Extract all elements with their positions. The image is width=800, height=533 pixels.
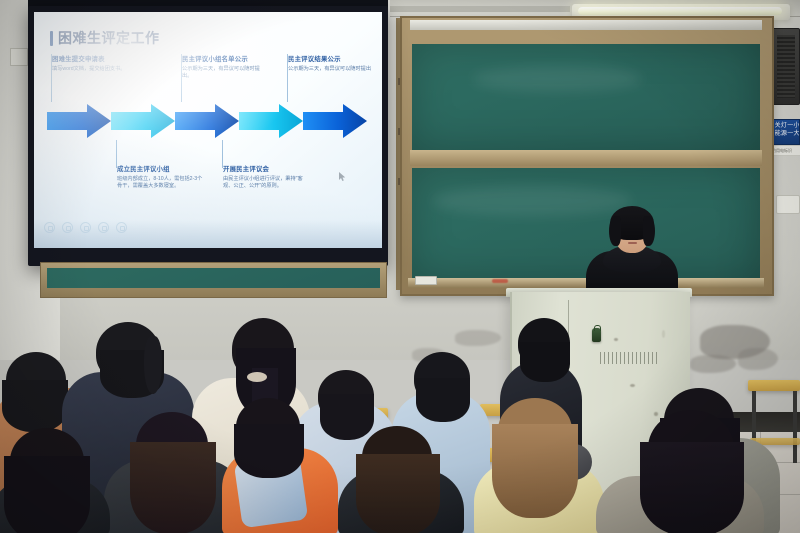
more-icon[interactable]	[116, 222, 127, 233]
step-5-body: 公示期为三天，有异议可以随时提出	[288, 66, 374, 73]
step-box-3: 民主评议小组名单公示 公示期为三天，有异议可以随时提出。	[182, 56, 268, 80]
gear-icon[interactable]	[98, 222, 109, 233]
step-box-4: 开展民主评议会 由民主评议小组进行评议，秉持"客观、公正、公开"的原则。	[223, 166, 309, 190]
presenter-mouth	[628, 242, 637, 244]
step-1-heading: 困难生提交申请表	[52, 56, 138, 64]
arrow-step-2	[111, 104, 175, 138]
step-box-2: 成立民主评议小组 班级内部成立，8-10人，需包括2-3个骨干，需覆盖大多数寝室…	[117, 166, 203, 190]
presentation-slide[interactable]: 困难生评定工作 困难生提交申请表 填写word文档，提交给团支书。 民主评议小组…	[34, 12, 382, 248]
wall-outlet[interactable]	[776, 195, 800, 214]
podium-lock-icon[interactable]	[592, 328, 601, 342]
arrow-step-1	[47, 104, 111, 138]
wall-speaker	[772, 28, 800, 105]
chalkboard-top-rail	[410, 20, 762, 30]
chalk-mark	[492, 279, 508, 283]
title-accent-bar	[50, 31, 53, 46]
step-3-body: 公示期为三天，有异议可以随时提出。	[182, 66, 268, 80]
step-2-heading: 成立民主评议小组	[117, 166, 203, 174]
bottom-step-labels: 成立民主评议小组 班级内部成立，8-10人，需包括2-3个骨干，需覆盖大多数寝室…	[34, 152, 382, 204]
desk-right-edge	[748, 380, 800, 391]
step-box-1: 困难生提交申请表 填写word文档，提交给团支书。	[52, 56, 138, 73]
arrow-step-3	[175, 104, 239, 138]
chalkboard-upper-panel	[412, 44, 760, 150]
pen-icon[interactable]	[62, 222, 73, 233]
top-step-labels: 困难生提交申请表 填写word文档，提交给团支书。 民主评议小组名单公示 公示期…	[34, 56, 382, 96]
presenter	[586, 207, 678, 299]
plaster-damage	[690, 355, 736, 373]
connector-line-5	[287, 54, 288, 102]
connector-line-1	[51, 54, 52, 102]
arrow-step-4	[239, 104, 303, 138]
step-4-heading: 开展民主评议会	[223, 166, 309, 174]
mouse-cursor-icon	[339, 172, 346, 181]
step-1-body: 填写word文档，提交给团支书。	[52, 66, 138, 73]
connector-line-3	[181, 54, 182, 102]
step-3-heading: 民主评议小组名单公示	[182, 56, 268, 64]
play-icon[interactable]	[44, 222, 55, 233]
chalkboard-eraser[interactable]	[415, 276, 437, 285]
arrow-step-5	[303, 104, 367, 138]
wall-plate	[10, 48, 28, 66]
ceiling-beam	[390, 6, 570, 12]
step-box-5: 民主评议结果公示 公示期为三天，有异议可以随时提出	[288, 56, 374, 73]
podium-vent-slots	[600, 352, 660, 364]
step-4-body: 由民主评议小组进行评议，秉持"客观、公正、公开"的原则。	[223, 176, 309, 190]
step-2-body: 班级内部成立，8-10人，需包括2-3个骨干，需覆盖大多数寝室。	[117, 176, 203, 190]
slide-title-row: 困难生评定工作	[50, 28, 160, 48]
presenter-hair-right	[643, 216, 655, 246]
step-5-heading: 民主评议结果公示	[288, 56, 374, 64]
fluorescent-tube-light	[578, 7, 782, 15]
slide-title: 困难生评定工作	[58, 28, 160, 48]
presenter-hair-left	[609, 216, 621, 246]
classroom-photo: 随手关灯一小步 节约能源一大步 节约用电标识 困难生评定工作 困难生提交申请表 …	[0, 0, 800, 533]
chalkboard-mid-rail	[410, 150, 762, 166]
left-chalkboard-strip	[40, 262, 387, 298]
plaster-damage	[738, 348, 778, 370]
process-arrow-row	[47, 104, 369, 138]
marker-icon[interactable]	[80, 222, 91, 233]
desk-leg	[793, 391, 797, 463]
ppt-presenter-toolbar[interactable]	[44, 222, 127, 233]
